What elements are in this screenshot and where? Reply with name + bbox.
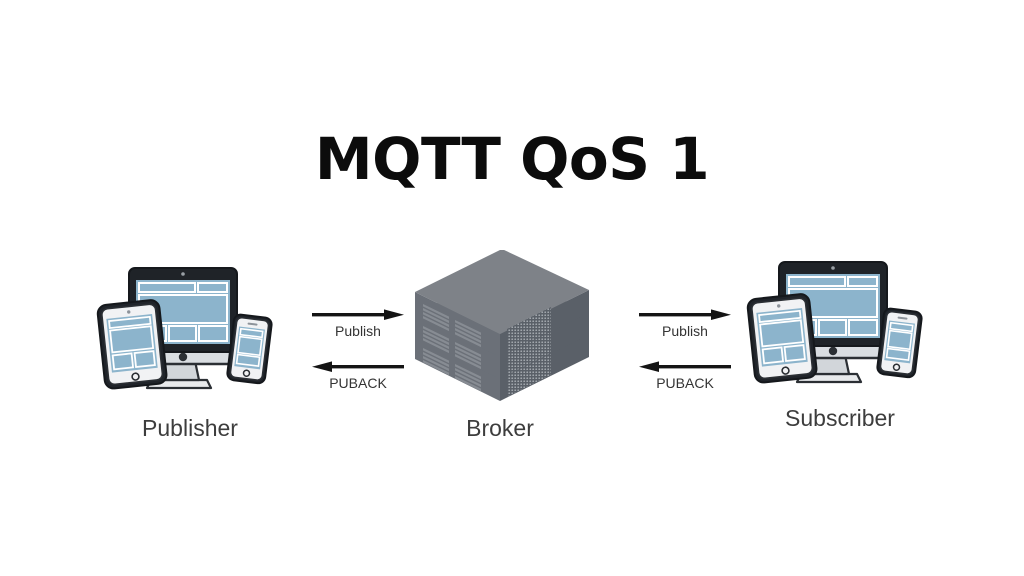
flow-label-puback-right: PUBACK [625, 375, 745, 391]
smartphone-icon [877, 308, 923, 378]
arrow-right-icon [639, 308, 731, 322]
tablet-icon [747, 293, 817, 383]
flow-label-publish-left: Publish [298, 323, 418, 339]
diagram-canvas: MQTT QoS 1 [0, 0, 1024, 576]
subscriber-devices-icon [745, 252, 935, 402]
arrow-left-icon [312, 360, 404, 374]
flow-label-puback-left: PUBACK [298, 375, 418, 391]
flow-publisher-broker: Publish PUBACK [298, 308, 418, 391]
page-title: MQTT QoS 1 [0, 130, 1024, 188]
flow-label-publish-right: Publish [625, 323, 745, 339]
publisher-devices-icon [95, 258, 285, 408]
node-label-publisher: Publisher [85, 415, 295, 442]
smartphone-icon [227, 314, 273, 384]
arrow-right-icon [312, 308, 404, 322]
flow-broker-subscriber: Publish PUBACK [625, 308, 745, 391]
arrow-left-icon [639, 360, 731, 374]
node-label-broker: Broker [400, 415, 600, 442]
node-label-subscriber: Subscriber [735, 405, 945, 432]
tablet-icon [97, 299, 167, 389]
broker-server-stack-icon [403, 250, 603, 405]
